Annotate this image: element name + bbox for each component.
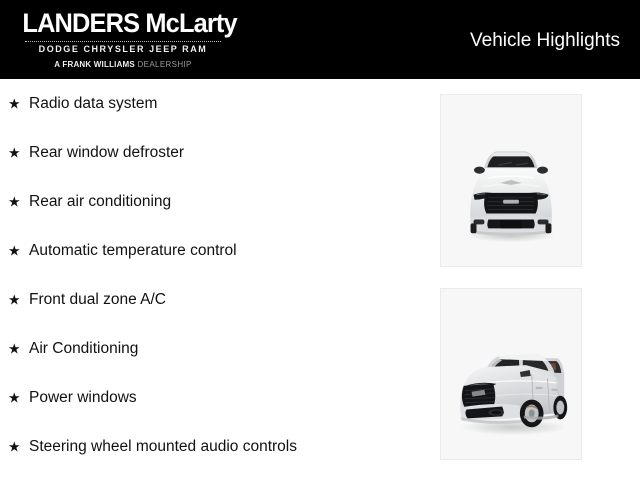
dealer-logo-divider: [25, 41, 221, 42]
star-icon: ★: [8, 145, 21, 159]
dealer-logo-tagline-strong: A FRANK WILLIAMS: [54, 60, 135, 69]
list-item-label: Rear air conditioning: [29, 192, 171, 211]
list-item-label: Air Conditioning: [29, 339, 138, 358]
list-item-label: Rear window defroster: [29, 143, 184, 162]
list-item: ★ Front dual zone A/C: [0, 275, 430, 324]
star-icon: ★: [8, 292, 21, 306]
star-icon: ★: [8, 96, 21, 110]
dealer-logo[interactable]: LANDERS McLarty DODGE CHRYSLER JEEP RAM …: [16, 9, 230, 70]
vehicle-highlights-page: LANDERS McLarty DODGE CHRYSLER JEEP RAM …: [0, 0, 640, 480]
list-item: ★ Automatic temperature control: [0, 226, 430, 275]
list-item: ★ Rear window defroster: [0, 128, 430, 177]
list-item: ★ Radio data system: [0, 79, 430, 128]
list-item-label: Radio data system: [29, 94, 157, 113]
list-item-label: Steering wheel mounted audio controls: [29, 437, 297, 456]
vehicle-photo-front[interactable]: [440, 94, 582, 267]
vehicle-photo-front-three-quarter[interactable]: [440, 288, 582, 460]
star-icon: ★: [8, 390, 21, 404]
star-icon: ★: [8, 341, 21, 355]
star-icon: ★: [8, 194, 21, 208]
list-item-label: Automatic temperature control: [29, 241, 237, 260]
vehicle-highlights-list: ★ Radio data system ★ Rear window defros…: [0, 79, 430, 471]
star-icon: ★: [8, 243, 21, 257]
list-item-label: Front dual zone A/C: [29, 290, 166, 309]
list-item: ★ Air Conditioning: [0, 324, 430, 373]
page-header: LANDERS McLarty DODGE CHRYSLER JEEP RAM …: [0, 0, 640, 79]
list-item: ★ Steering wheel mounted audio controls: [0, 422, 430, 471]
dealer-logo-tagline-light: DEALERSHIP: [138, 60, 192, 69]
list-item: ★ Power windows: [0, 373, 430, 422]
vehicle-front-image: [441, 95, 581, 266]
vehicle-three-quarter-image: [441, 289, 581, 459]
dealer-logo-brands: DODGE CHRYSLER JEEP RAM: [16, 44, 230, 55]
page-title: Vehicle Highlights: [470, 29, 620, 52]
list-item: ★ Rear air conditioning: [0, 177, 430, 226]
star-icon: ★: [8, 439, 21, 453]
dealer-logo-wordmark: LANDERS McLarty: [22, 9, 223, 38]
dealer-logo-tagline: A FRANK WILLIAMS DEALERSHIP: [16, 60, 230, 70]
list-item-label: Power windows: [29, 388, 137, 407]
